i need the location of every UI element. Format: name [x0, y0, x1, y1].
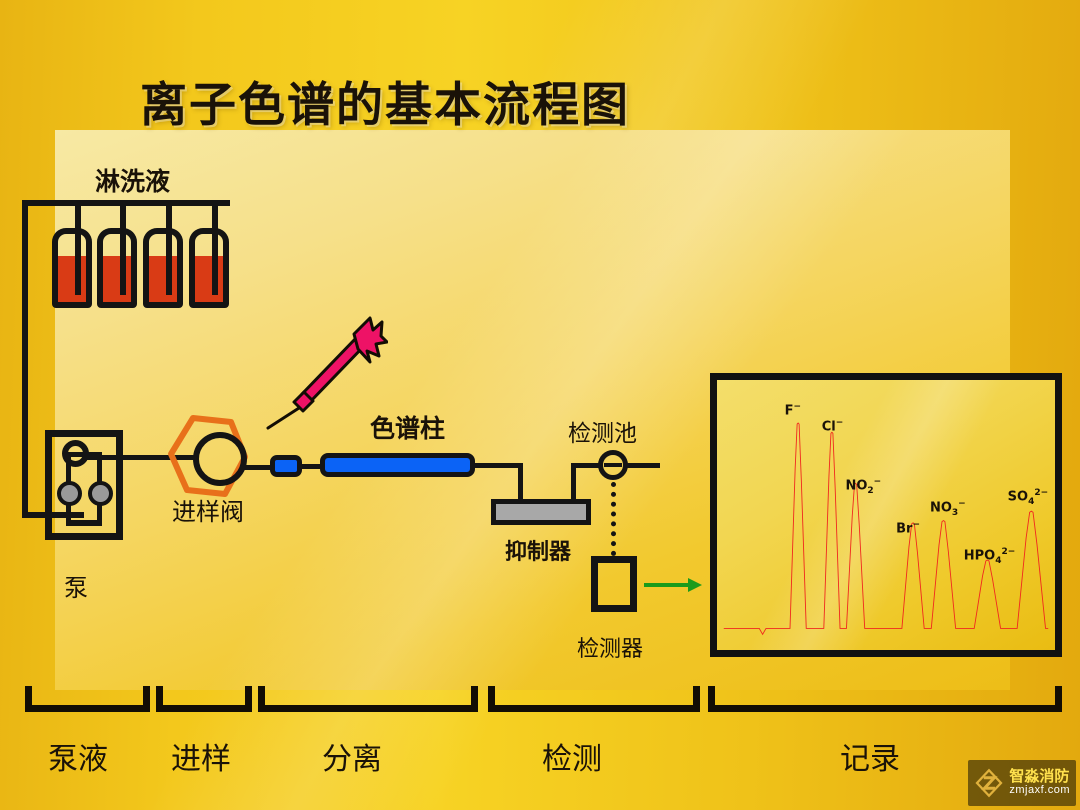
peak-label: NO2− — [845, 477, 881, 496]
watermark: 智淼消防 zmjaxf.com — [968, 760, 1076, 806]
stage-label-3: 分离 — [322, 734, 382, 778]
chromatogram-frame: F−Cl−NO2−Br−NO3−HPO42−SO42− — [710, 373, 1062, 657]
peak-label: Cl− — [822, 418, 844, 434]
stage-bracket — [25, 686, 150, 712]
pump-internal-line — [66, 455, 71, 485]
suppressor-label: 抑制器 — [505, 534, 571, 566]
stage-label-4: 检测 — [542, 734, 602, 778]
detector — [591, 556, 637, 612]
peak-label: SO42− — [1008, 488, 1049, 507]
bottle-liquid — [58, 256, 86, 302]
chromatogram-plot: F−Cl−NO2−Br−NO3−HPO42−SO42− — [717, 380, 1055, 650]
analytical-column — [320, 453, 475, 477]
bottle-dip-tube — [212, 200, 218, 295]
bottle-dip-tube — [120, 200, 126, 295]
brand-logo-icon — [974, 768, 1004, 798]
eluent-feed-line — [22, 200, 28, 518]
detector-label: 检测器 — [577, 631, 643, 663]
eluent-manifold-bar — [22, 200, 230, 206]
bottle-dip-tube — [166, 200, 172, 295]
eluent-label: 淋洗液 — [95, 162, 170, 198]
peak-label: HPO42− — [964, 547, 1016, 566]
pump-label: 泵 — [64, 568, 88, 603]
eluent-bottle — [97, 228, 137, 308]
chromatogram-trace — [717, 380, 1055, 650]
stage-bracket — [156, 686, 252, 712]
peak-label: NO3− — [930, 499, 966, 518]
stage-label-2: 进样 — [171, 734, 231, 778]
pump-internal-line — [66, 520, 102, 526]
peak-label: F− — [785, 402, 801, 418]
slide-canvas: 离子色谱的基本流程图 淋洗液 泵 — [0, 0, 1080, 810]
syringe-icon — [258, 316, 388, 431]
watermark-name: 智淼消防 — [1009, 769, 1070, 785]
eluent-bottle — [52, 228, 92, 308]
stage-bracket — [708, 686, 1062, 712]
guard-column — [270, 455, 302, 477]
stage-bracket — [488, 686, 700, 712]
eluent-bottle — [143, 228, 183, 308]
bottle-liquid — [195, 256, 223, 302]
bottle-dip-tube — [75, 200, 81, 295]
peak-label: Br− — [896, 520, 920, 536]
tube-guard-to-column — [300, 464, 322, 469]
injection-valve-label: 进样阀 — [172, 492, 244, 527]
column-label: 色谱柱 — [370, 409, 445, 445]
bottle-liquid — [149, 256, 177, 302]
stage-label-1: 泵液 — [48, 734, 108, 778]
signal-line — [611, 482, 616, 556]
tube-suppressor-to-cell — [571, 463, 576, 503]
detection-cell-label: 检测池 — [568, 414, 637, 448]
detection-cell-bar — [604, 463, 622, 467]
recorder-arrow-icon — [644, 575, 704, 595]
stage-label-5: 记录 — [840, 734, 900, 778]
tube-column-to-suppressor — [518, 463, 523, 500]
tube-column-to-suppressor — [473, 463, 523, 468]
eluent-bottle — [189, 228, 229, 308]
page-title: 离子色谱的基本流程图 — [140, 66, 630, 135]
watermark-site: zmjaxf.com — [1009, 785, 1070, 797]
bottle-liquid — [103, 256, 131, 302]
suppressor — [491, 499, 591, 525]
tube-cell-outlet — [627, 463, 660, 468]
stage-bracket — [258, 686, 478, 712]
injection-valve-rotor[interactable] — [193, 432, 247, 486]
